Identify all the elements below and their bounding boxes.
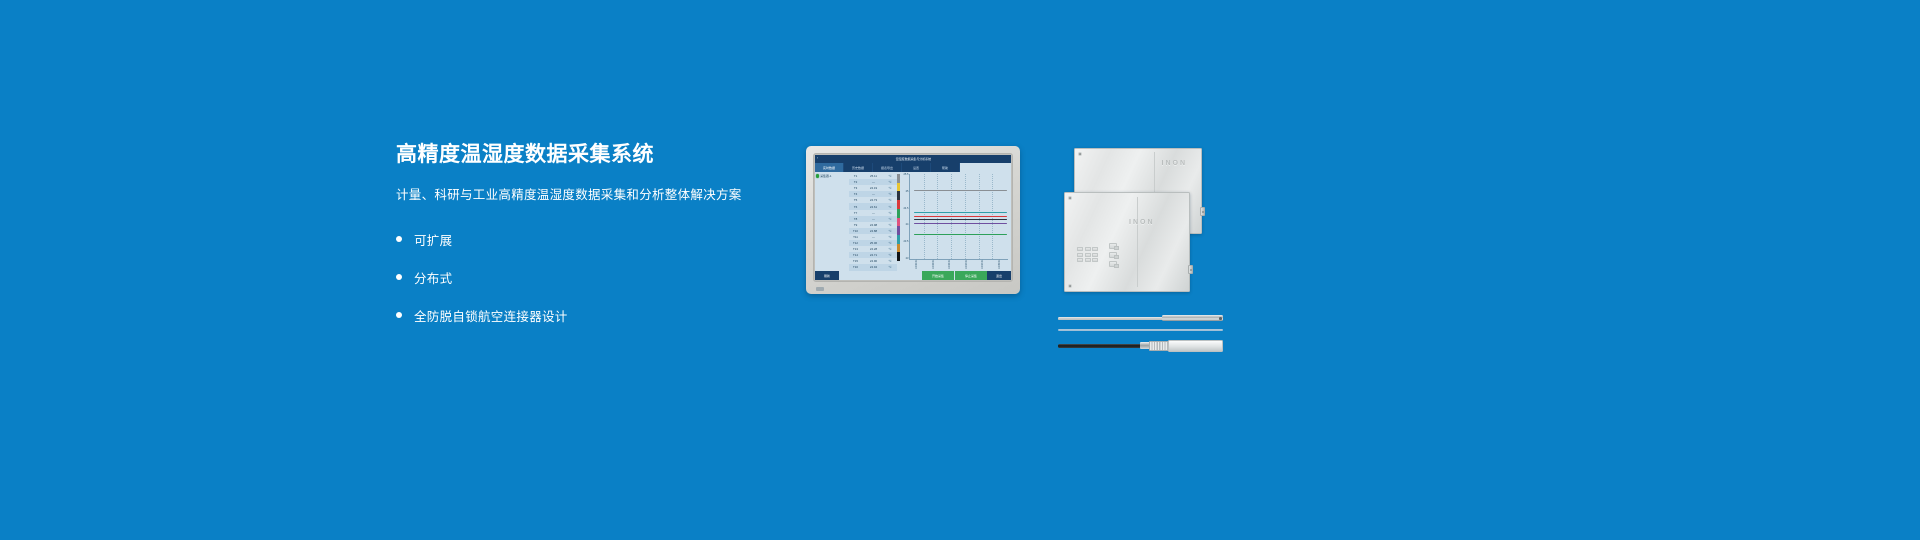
connector-icon — [1109, 243, 1117, 249]
mounting-tab — [1188, 265, 1193, 274]
tab-settings[interactable]: 设置 — [902, 163, 931, 172]
aviation-connector-probe — [1058, 339, 1223, 353]
tab-bar: 实时数据 历史数据 报表导出 设置 帮助 — [815, 163, 1011, 172]
port-icon — [1085, 247, 1091, 251]
connector-icon — [1109, 252, 1117, 258]
cell-unit: ℃ — [885, 198, 895, 202]
x-tick-label: 10:04:31 — [982, 260, 984, 269]
cell-unit: ℃ — [885, 205, 895, 209]
tab-history-data[interactable]: 历史数据 — [844, 163, 873, 172]
tab-help[interactable]: 帮助 — [931, 163, 960, 172]
mounting-tab — [1200, 207, 1205, 216]
legend-swatch — [897, 183, 900, 192]
y-tick-label: 23.5 — [903, 240, 908, 243]
cell-channel: T13 — [849, 247, 862, 251]
terminal-block-ports — [1077, 247, 1098, 262]
cell-unit: ℃ — [885, 192, 895, 196]
cell-channel: T7 — [849, 211, 862, 215]
series-line — [914, 212, 1007, 213]
cell-unit: ℃ — [885, 247, 895, 251]
x-tick-label: 10:03:31 — [949, 260, 951, 269]
cable-body — [1058, 344, 1144, 348]
cell-channel: T12 — [849, 241, 862, 245]
cell-channel: T9 — [849, 223, 862, 227]
cell-channel: T5 — [849, 198, 862, 202]
stainless-temperature-probe — [1058, 315, 1223, 322]
slim-sensor-cable — [1058, 328, 1223, 332]
cell-value: 24.94 — [862, 265, 885, 269]
cell-unit: ℃ — [885, 229, 895, 233]
bullet-dot-icon — [396, 312, 402, 318]
device-tree-node-label: 采集器-1 — [820, 174, 831, 178]
port-icon — [1085, 253, 1091, 257]
cell-unit: ℃ — [885, 235, 895, 239]
cell-channel: T4 — [849, 192, 862, 196]
status-led-green-icon — [816, 174, 819, 177]
port-icon — [1077, 258, 1083, 262]
legend-swatch — [897, 235, 900, 244]
cell-channel: T14 — [849, 253, 862, 257]
gridline — [979, 174, 980, 259]
cell-value: — — [862, 235, 885, 239]
legend-swatch — [897, 191, 900, 200]
cell-channel: T2 — [849, 180, 862, 184]
x-tick-label: 10:04:01 — [966, 260, 968, 269]
screen-bezel: ‹ 温湿度数据采集与分析系统 实时数据 历史数据 报表导出 设置 帮助 采 — [813, 153, 1013, 282]
series-line — [914, 219, 1007, 220]
port-icon — [1077, 253, 1083, 257]
cell-channel: T11 — [849, 235, 862, 239]
cell-unit: ℃ — [885, 259, 895, 263]
software-screen: ‹ 温湿度数据采集与分析系统 实时数据 历史数据 报表导出 设置 帮助 采 — [815, 155, 1011, 280]
channel-color-legend — [897, 174, 900, 261]
cell-value: — — [862, 211, 885, 215]
cell-unit: ℃ — [885, 217, 895, 221]
tab-realtime-data[interactable]: 实时数据 — [815, 163, 844, 172]
banner-copy: 高精度温湿度数据采集系统 计量、科研与工业高精度温湿度数据采集和分析整体解决方案… — [396, 142, 816, 340]
panel-seam — [1137, 197, 1138, 287]
list-item: 可扩展 — [396, 226, 816, 252]
cell-channel: T16 — [849, 265, 862, 269]
trend-chart[interactable]: 25.5 25 24.5 24 23.5 23 — [901, 173, 1009, 269]
channel-table: T1 25.11 ℃ T2 — ℃ T3 24.19 ℃ — [849, 172, 897, 271]
cell-channel: T15 — [849, 259, 862, 263]
probe-rod — [1058, 317, 1170, 320]
feature-list: 可扩展 分布式 全防脱自锁航空连接器设计 — [396, 226, 816, 328]
chart-plot-area — [909, 174, 1008, 260]
x-tick-label: 10:05:01 — [999, 260, 1001, 269]
cell-value: 24.98 — [862, 223, 885, 227]
footer-spacer — [839, 271, 921, 280]
screen-titlebar: ‹ 温湿度数据采集与分析系统 — [815, 155, 1011, 163]
legend-swatch — [897, 218, 900, 227]
series-line — [914, 234, 1007, 235]
cell-channel: T1 — [849, 174, 862, 178]
cell-value: 24.90 — [862, 259, 885, 263]
legend-swatch — [897, 252, 900, 261]
feature-label: 分布式 — [414, 268, 452, 287]
cell-channel: T3 — [849, 186, 862, 190]
cell-value: 25.06 — [862, 241, 885, 245]
list-item: 全防脱自锁航空连接器设计 — [396, 302, 816, 328]
cell-unit: ℃ — [885, 180, 895, 184]
connector-body — [1168, 340, 1223, 352]
product-banner: 高精度温湿度数据采集系统 计量、科研与工业高精度温湿度数据采集和分析整体解决方案… — [0, 0, 1920, 540]
port-icon — [1077, 247, 1083, 251]
brand-logo: INON — [1129, 219, 1155, 226]
cell-value: 24.73 — [862, 198, 885, 202]
cell-channel: T8 — [849, 217, 862, 221]
gridline — [924, 174, 925, 259]
cable-body — [1058, 329, 1223, 331]
chart-x-axis: 10:02:31 10:03:01 10:03:31 10:04:01 10:0… — [909, 260, 1008, 269]
start-acquisition-button[interactable]: 开始采集 — [921, 271, 954, 280]
connector-icon — [1109, 261, 1117, 267]
legend-swatch — [897, 244, 900, 253]
feature-label: 全防脱自锁航空连接器设计 — [414, 306, 568, 325]
page-subtitle: 计量、科研与工业高精度温湿度数据采集和分析整体解决方案 — [396, 186, 816, 204]
port-icon — [1085, 258, 1091, 262]
legend-swatch — [897, 200, 900, 209]
gridline — [951, 174, 952, 259]
connector-sockets — [1109, 243, 1117, 267]
cell-value: 24.71 — [862, 253, 885, 257]
port-icon — [1092, 253, 1098, 257]
x-tick-label: 10:02:31 — [916, 260, 918, 269]
chart-y-axis: 25.5 25 24.5 24 23.5 23 — [901, 173, 909, 260]
exit-button[interactable]: 退出 — [987, 271, 1011, 280]
cell-unit: ℃ — [885, 223, 895, 227]
feature-label: 可扩展 — [414, 230, 452, 249]
cell-channel: T6 — [849, 205, 862, 209]
list-item: 分布式 — [396, 264, 816, 290]
port-icon — [1092, 247, 1098, 251]
device-tree-node[interactable]: 采集器-1 — [816, 174, 848, 178]
screw-icon — [1078, 152, 1082, 156]
tab-report-export[interactable]: 报表导出 — [873, 163, 902, 172]
sensor-probes-group — [1058, 315, 1223, 360]
screen-body: 采集器-1 T1 25.11 ℃ T2 — ℃ — [815, 172, 1011, 271]
cell-value: 25.11 — [862, 174, 885, 178]
screw-icon — [1068, 284, 1072, 288]
legend-swatch — [897, 174, 900, 183]
stop-acquisition-button[interactable]: 停止采集 — [954, 271, 987, 280]
cell-value: — — [862, 180, 885, 184]
port-icon — [1092, 258, 1098, 262]
tab-bar-filler — [960, 163, 1011, 172]
panel-pc-device: ‹ 温湿度数据采集与分析系统 实时数据 历史数据 报表导出 设置 帮助 采 — [806, 146, 1020, 294]
table-row[interactable]: T16 24.94 ℃ — [849, 264, 897, 270]
cell-unit: ℃ — [885, 186, 895, 190]
screw-icon — [1068, 196, 1072, 200]
window-title: 温湿度数据采集与分析系统 — [820, 157, 1007, 161]
series-line — [914, 223, 1007, 224]
hardware-modules-group: INON INON — [1060, 144, 1220, 304]
y-tick-label: 25.5 — [903, 173, 908, 176]
gridline — [937, 174, 938, 259]
brand-logo: INON — [1162, 160, 1188, 167]
cell-channel: T10 — [849, 229, 862, 233]
chevron-left-icon[interactable]: ‹ — [817, 157, 818, 160]
refresh-button[interactable]: 刷新 — [815, 271, 839, 280]
cell-value: 24.28 — [862, 247, 885, 251]
self-locking-nut — [1149, 341, 1169, 350]
cell-unit: ℃ — [885, 241, 895, 245]
cell-value: — — [862, 192, 885, 196]
probe-sleeve — [1162, 315, 1223, 321]
bullet-dot-icon — [396, 236, 402, 242]
cell-unit: ℃ — [885, 265, 895, 269]
acquisition-module-front: INON — [1064, 192, 1190, 292]
gridline — [965, 174, 966, 259]
page-title: 高精度温湿度数据采集系统 — [396, 142, 816, 168]
y-tick-label: 24.5 — [903, 207, 908, 210]
device-tree: 采集器-1 — [815, 172, 849, 271]
legend-swatch — [897, 209, 900, 218]
bullet-dot-icon — [396, 274, 402, 280]
screen-footer: 刷新 开始采集 停止采集 退出 — [815, 271, 1011, 280]
cell-value: 24.19 — [862, 186, 885, 190]
gridline — [992, 174, 993, 259]
cell-unit: ℃ — [885, 174, 895, 178]
series-line — [914, 216, 1007, 217]
series-line — [914, 190, 1007, 191]
cell-value: — — [862, 217, 885, 221]
x-tick-label: 10:03:01 — [933, 260, 935, 269]
cell-unit: ℃ — [885, 253, 895, 257]
cell-unit: ℃ — [885, 211, 895, 215]
cell-value: 24.88 — [862, 229, 885, 233]
cell-value: 24.61 — [862, 205, 885, 209]
legend-swatch — [897, 226, 900, 235]
